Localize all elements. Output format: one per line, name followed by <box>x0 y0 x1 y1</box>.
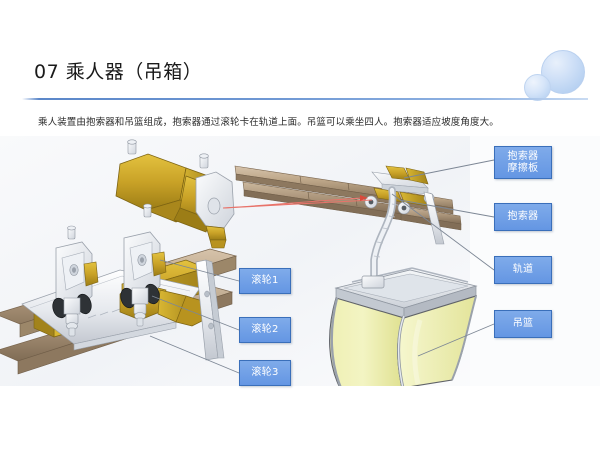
page-title: 07 乘人器（吊箱） <box>34 57 202 84</box>
callout-roller-1[interactable]: 滚轮1 <box>239 268 291 294</box>
callout-friction-plate-line1: 抱索器 <box>508 151 539 163</box>
callout-roller-3[interactable]: 滚轮3 <box>239 360 291 386</box>
callout-roller-2[interactable]: 滚轮2 <box>239 317 291 343</box>
callout-rail[interactable]: 轨道 <box>494 256 552 284</box>
slide-canvas: 07 乘人器（吊箱） 乘人装置由抱索器和吊篮组成，抱索器通过滚轮卡在轨道上面。吊… <box>0 0 600 450</box>
callout-grip[interactable]: 抱索器 <box>494 203 552 231</box>
decorative-circle-small-icon <box>524 74 551 101</box>
callout-friction-plate[interactable]: 抱索器 摩擦板 <box>494 146 552 179</box>
callout-cabin[interactable]: 吊篮 <box>494 310 552 338</box>
slide-subtitle: 乘人装置由抱索器和吊篮组成，抱索器通过滚轮卡在轨道上面。吊篮可以乘坐四人。抱索器… <box>38 116 568 129</box>
header-divider <box>22 98 588 100</box>
callout-friction-plate-line2: 摩擦板 <box>508 163 539 175</box>
